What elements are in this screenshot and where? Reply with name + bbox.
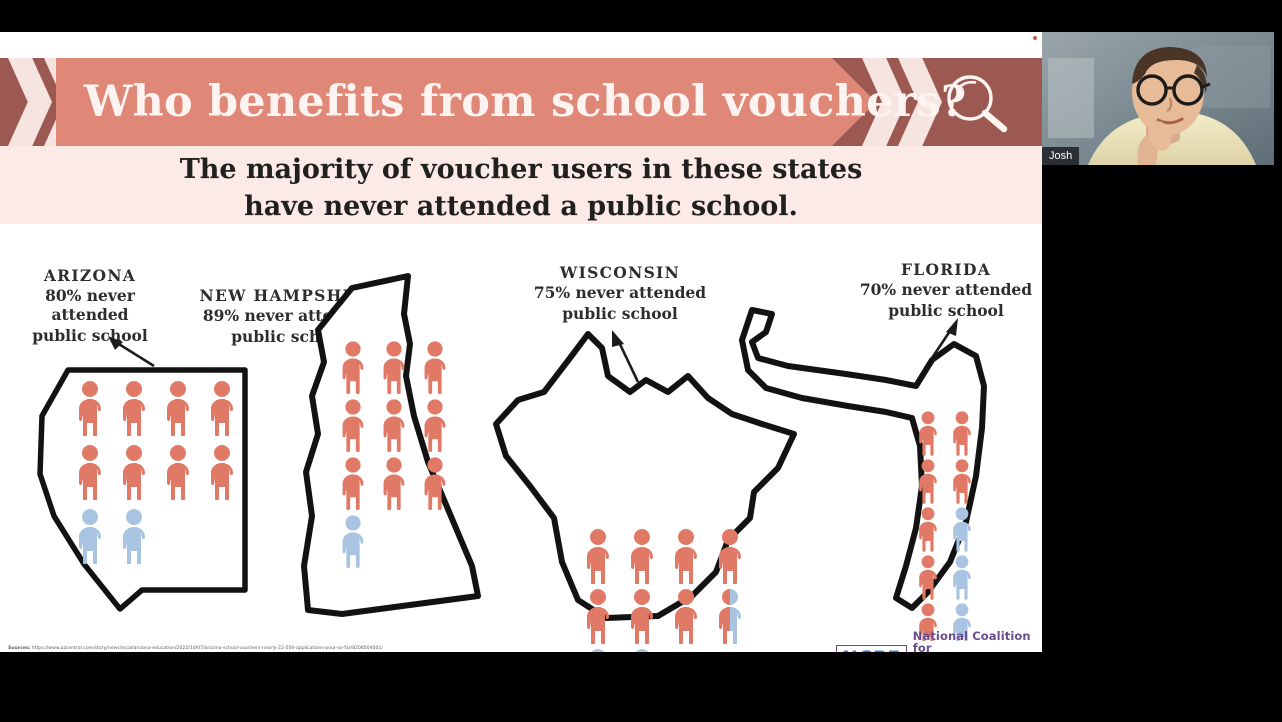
ncpe-tagline-line1: National Coalition for — [913, 631, 1038, 652]
participant-name-label: Josh — [1042, 147, 1079, 165]
person-icon-never-attended — [202, 444, 242, 500]
person-icon-never-attended — [334, 398, 372, 452]
person-icon-never-attended — [416, 456, 454, 510]
source-url-1: https://www.azcentral.com/story/news/loc… — [32, 646, 383, 651]
person-icon-never-attended — [202, 380, 242, 436]
slide-title: Who benefits from school vouchers? — [84, 77, 966, 127]
state-stat-florida-line1: 70% never attended — [858, 281, 1034, 300]
person-icon-never-attended — [375, 398, 413, 452]
person-icon-never-attended — [334, 456, 372, 510]
person-icon-attended-public — [946, 506, 978, 552]
pictogram-group-arizona — [70, 380, 242, 564]
person-icon-never-attended — [946, 410, 978, 456]
ncpe-acronym: NCPE — [842, 647, 901, 653]
person-icon-never-attended — [416, 398, 454, 452]
state-name-arizona: ARIZONA — [4, 266, 176, 285]
person-icon-never-attended — [375, 456, 413, 510]
person-icon-attended-public — [70, 508, 110, 564]
state-name-florida: FLORIDA — [858, 260, 1034, 279]
presentation-slide: Who benefits from school vouchers? The m… — [0, 32, 1042, 652]
person-icon-never-attended — [416, 340, 454, 394]
subtitle-line-1: The majority of voucher users in these s… — [180, 154, 863, 185]
person-icon-attended-public — [114, 508, 154, 564]
person-icon-never-attended — [578, 588, 618, 644]
pictogram-group-wisconsin — [578, 528, 751, 652]
person-icon-attended-public — [334, 514, 372, 568]
person-icon-never-attended — [375, 340, 413, 394]
magnifying-glass-icon — [934, 72, 1020, 134]
state-stat-arizona-line1: 80% never attended — [4, 287, 176, 325]
subtitle-line-2: have never attended a public school. — [244, 191, 798, 222]
recording-indicator-dot — [1033, 36, 1037, 40]
webcam-video-feed — [1042, 32, 1274, 165]
person-icon-never-attended — [666, 528, 706, 584]
person-icon-never-attended — [334, 340, 372, 394]
state-label-arizona: ARIZONA 80% never attended public school — [4, 266, 176, 346]
sources-block: Sources: https://www.azcentral.com/story… — [8, 644, 628, 652]
subtitle-band: The majority of voucher users in these s… — [0, 146, 1042, 224]
person-icon-never-attended — [912, 554, 944, 600]
person-icon-never-attended — [70, 444, 110, 500]
state-map-new-hampshire — [282, 266, 494, 618]
sources-line-1: Sources: https://www.azcentral.com/story… — [8, 644, 628, 652]
screen-capture: Who benefits from school vouchers? The m… — [0, 0, 1282, 722]
person-icon-never-attended — [622, 528, 662, 584]
state-map-arizona — [24, 354, 260, 616]
person-icon-never-attended — [912, 458, 944, 504]
person-icon-never-attended — [912, 410, 944, 456]
pictogram-group-new-hampshire — [334, 340, 454, 568]
webcam-tile[interactable]: Josh — [1042, 32, 1274, 165]
state-pictogram-area: ARIZONA 80% never attended public school — [0, 224, 1042, 612]
ncpe-wordmark: National Coalition for PUBLIC EDUCATION — [913, 631, 1038, 652]
person-icon-never-attended — [70, 380, 110, 436]
person-icon-never-attended — [578, 528, 618, 584]
person-icon-never-attended — [622, 588, 662, 644]
state-name-wisconsin: WISCONSIN — [532, 263, 708, 282]
person-icon-never-attended — [158, 380, 198, 436]
person-icon-never-attended — [666, 588, 706, 644]
person-icon-never-attended — [912, 506, 944, 552]
person-icon-never-attended — [114, 444, 154, 500]
ncpe-logo: NCPE National Coalition for PUBLIC EDUCA… — [836, 641, 1038, 652]
person-icon-attended-public — [946, 554, 978, 600]
state-map-florida — [736, 300, 1002, 622]
pictogram-group-florida — [912, 410, 978, 648]
person-icon-attended-public — [622, 648, 662, 652]
person-icon-never-attended — [114, 380, 154, 436]
person-icon-never-attended — [946, 458, 978, 504]
chevron-decoration-left-1 — [8, 58, 52, 146]
slide-banner: Who benefits from school vouchers? — [0, 58, 1042, 146]
person-icon-never-attended — [158, 444, 198, 500]
slide-subtitle: The majority of voucher users in these s… — [0, 146, 1042, 225]
sources-label: Sources: — [8, 646, 30, 651]
ncpe-acronym-box: NCPE — [836, 645, 907, 653]
